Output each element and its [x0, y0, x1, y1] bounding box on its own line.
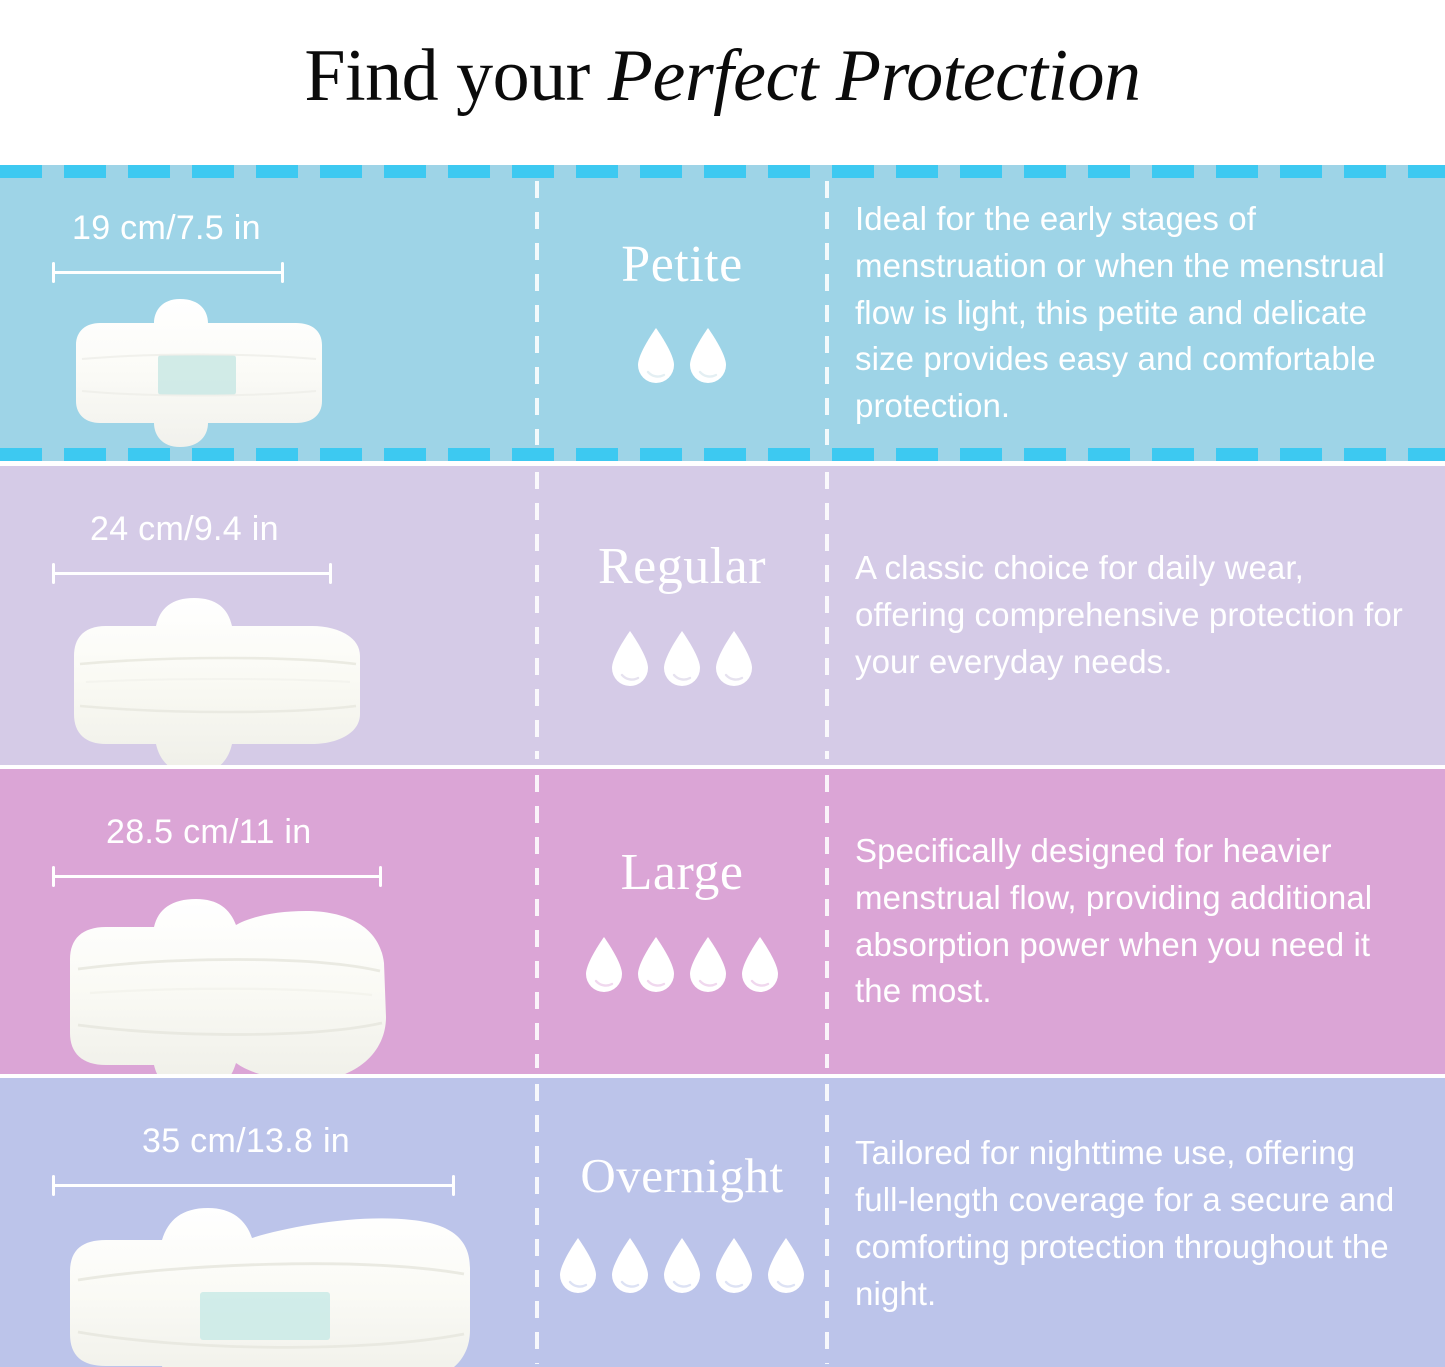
page-title-plain: Find your: [304, 35, 607, 117]
size-name-cell-regular: Regular: [537, 466, 827, 765]
size-name-large: Large: [621, 846, 744, 901]
absorbency-droplets-overnight: [555, 1236, 809, 1298]
pad-visual-cell-petite: 19 cm/7.5 in: [0, 165, 537, 461]
dimension-label-petite: 19 cm/7.5 in: [72, 211, 537, 245]
size-row-overnight[interactable]: 35 cm/13.8 in: [0, 1078, 1445, 1367]
droplet-icon: [555, 1236, 601, 1298]
size-row-regular[interactable]: 24 cm/9.4 in: [0, 466, 1445, 765]
column-divider-right: [825, 775, 829, 1068]
pad-illustration-large: [60, 897, 537, 1074]
description-cell-large: Specifically designed for heavier menstr…: [827, 769, 1445, 1074]
size-name-overnight: Overnight: [580, 1150, 783, 1201]
dimension-label-large: 28.5 cm/11 in: [106, 815, 537, 849]
description-cell-petite: Ideal for the early stages of menstruati…: [827, 165, 1445, 461]
size-name-regular: Regular: [598, 540, 766, 595]
column-divider-left: [535, 775, 539, 1068]
size-comparison-table: 19 cm/7.5 in: [0, 165, 1445, 1367]
description-cell-overnight: Tailored for nighttime use, offering ful…: [827, 1078, 1445, 1367]
absorbency-droplets-petite: [633, 326, 731, 388]
column-divider-right: [825, 472, 829, 759]
pad-illustration-regular: [60, 594, 537, 765]
pad-visual-cell-large: 28.5 cm/11 in: [0, 769, 537, 1074]
pad-visual-cell-overnight: 35 cm/13.8 in: [0, 1078, 537, 1367]
description-text-regular: A classic choice for daily wear, offerin…: [855, 545, 1415, 686]
pad-visual-cell-regular: 24 cm/9.4 in: [0, 466, 537, 765]
measurement-ruler-overnight: [52, 1174, 455, 1196]
column-divider-left: [535, 1084, 539, 1364]
droplet-icon: [659, 1236, 705, 1298]
droplet-icon: [633, 935, 679, 997]
droplet-icon: [685, 935, 731, 997]
absorbency-droplets-large: [581, 935, 783, 997]
droplet-icon: [685, 326, 731, 388]
page-title: Find your Perfect Protection: [304, 39, 1140, 127]
dimension-label-regular: 24 cm/9.4 in: [90, 512, 537, 546]
description-text-large: Specifically designed for heavier menstr…: [855, 828, 1415, 1015]
page-title-emphasis: Perfect Protection: [608, 35, 1141, 117]
droplet-icon: [711, 1236, 757, 1298]
dimension-label-overnight: 35 cm/13.8 in: [142, 1124, 537, 1158]
measurement-ruler-regular: [52, 562, 332, 584]
droplet-icon: [737, 935, 783, 997]
size-row-petite[interactable]: 19 cm/7.5 in: [0, 165, 1445, 461]
column-divider-left: [535, 181, 539, 445]
size-name-cell-petite: Petite: [537, 165, 827, 461]
page-header: Find your Perfect Protection: [0, 0, 1445, 165]
description-cell-regular: A classic choice for daily wear, offerin…: [827, 466, 1445, 765]
size-name-petite: Petite: [621, 238, 742, 293]
column-divider-right: [825, 181, 829, 445]
droplet-icon: [763, 1236, 809, 1298]
droplet-icon: [711, 629, 757, 691]
pad-illustration-petite: [58, 293, 537, 453]
column-divider-right: [825, 1084, 829, 1364]
droplet-icon: [607, 1236, 653, 1298]
size-name-cell-large: Large: [537, 769, 827, 1074]
size-row-large[interactable]: 28.5 cm/11 in: [0, 769, 1445, 1074]
description-text-overnight: Tailored for nighttime use, offering ful…: [855, 1130, 1415, 1317]
description-text-petite: Ideal for the early stages of menstruati…: [855, 196, 1415, 430]
absorbency-droplets-regular: [607, 629, 757, 691]
column-divider-left: [535, 472, 539, 759]
droplet-icon: [581, 935, 627, 997]
measurement-ruler-large: [52, 865, 382, 887]
pad-illustration-overnight: [60, 1206, 537, 1367]
droplet-icon: [633, 326, 679, 388]
measurement-ruler-petite: [52, 261, 284, 283]
size-name-cell-overnight: Overnight: [537, 1078, 827, 1367]
droplet-icon: [659, 629, 705, 691]
droplet-icon: [607, 629, 653, 691]
